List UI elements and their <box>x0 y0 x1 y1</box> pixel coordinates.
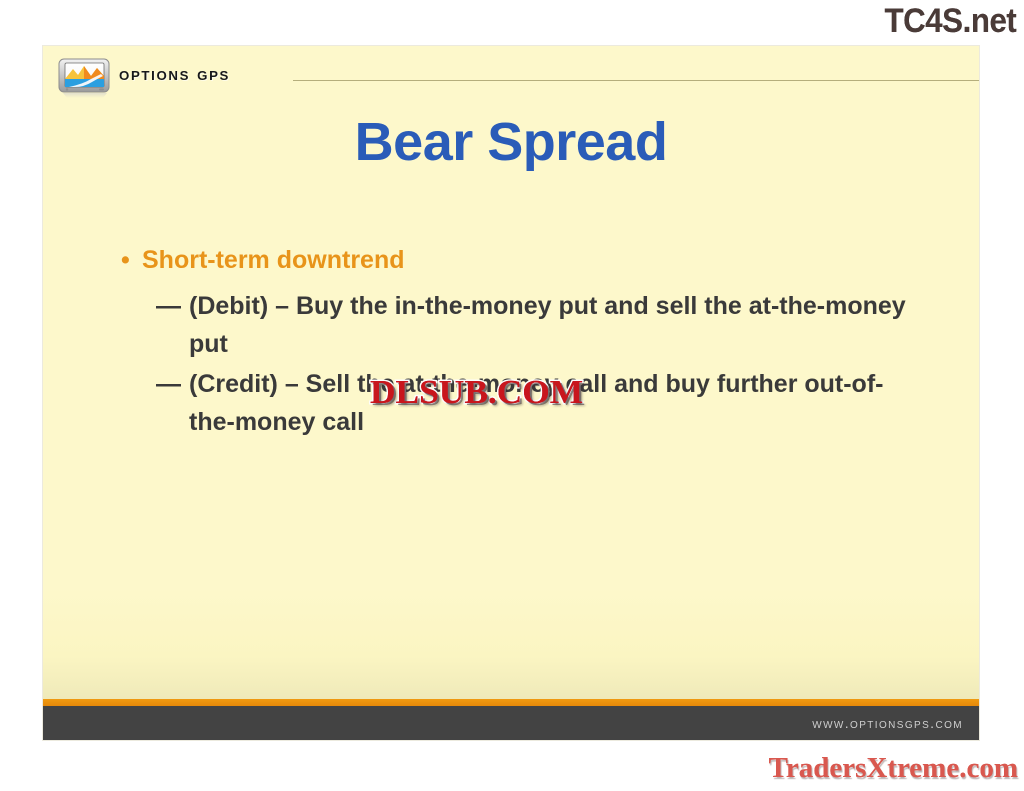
header-divider <box>293 80 979 81</box>
em-dash-icon: — <box>156 287 188 325</box>
bullet-level2-text: (Debit) – Buy the in-the-money put and s… <box>189 292 906 358</box>
tc4s-watermark: TC4S.net <box>884 2 1016 40</box>
bullet-level1: • Short-term downtrend <box>105 244 939 276</box>
slide-body: • Short-term downtrend — (Debit) – Buy t… <box>105 244 939 443</box>
slide-header: Options GPS <box>43 46 979 108</box>
dlsub-watermark-outline: DLSUB.COM <box>370 375 583 411</box>
footer-url: www.OptionsGPS.com <box>812 715 963 731</box>
brand-wordmark: Options GPS <box>119 64 230 86</box>
gps-device-icon <box>57 57 113 99</box>
bullet-level1-text: Short-term downtrend <box>142 246 405 274</box>
slide-footer: www.OptionsGPS.com <box>43 706 979 740</box>
presentation-slide: Options GPS Bear Spread • Short-term dow… <box>43 46 979 740</box>
slide-title: Bear Spread <box>43 112 979 172</box>
footer-accent-stripe <box>43 699 979 706</box>
em-dash-icon: — <box>156 365 188 403</box>
tradersxtreme-branding-outline: TradersXtreme.com <box>769 752 1018 785</box>
bullet-level2: — (Debit) – Buy the in-the-money put and… <box>105 287 929 363</box>
bullet-dot-icon: • <box>121 244 130 276</box>
